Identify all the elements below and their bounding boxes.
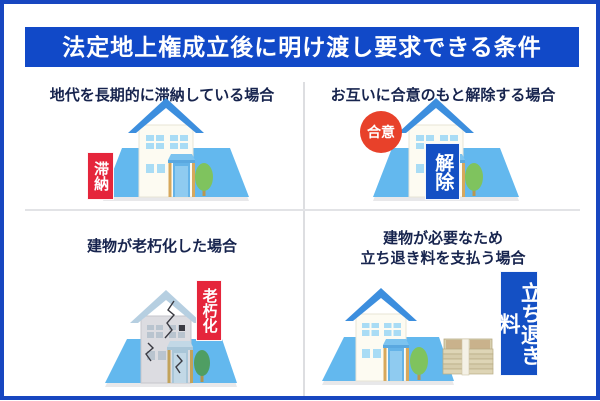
badge-taino: 滞納 bbox=[87, 152, 114, 200]
house-icon bbox=[22, 78, 302, 209]
illustration-house-on-land-plot bbox=[22, 78, 302, 209]
badge-kaijo: 解除 bbox=[425, 143, 460, 200]
badge-tachinokiryo: 立ち退き料 bbox=[500, 271, 538, 376]
badge-goui: 合意 bbox=[360, 111, 402, 153]
house-body bbox=[128, 98, 204, 197]
old-house-icon bbox=[22, 211, 302, 396]
poster-title: 法定地上権成立後に明け渡し要求できる条件 bbox=[62, 36, 542, 59]
poster-title-bar: 法定地上権成立後に明け渡し要求できる条件 bbox=[25, 27, 579, 67]
panel-building-deterioration: 建物が老朽化した場合 bbox=[22, 211, 302, 396]
panel-mutual-agreement: お互いに合意のもと解除する場合 bbox=[304, 78, 582, 209]
badge-roukyuka: 老朽化 bbox=[196, 280, 222, 341]
house-body bbox=[345, 288, 417, 381]
panel-grid: 地代を長期的に滞納している場合 bbox=[22, 78, 582, 396]
panel-rent-arrears: 地代を長期的に滞納している場合 bbox=[22, 78, 302, 209]
money-stack-icon bbox=[443, 339, 493, 375]
illustration-old-cracked-house bbox=[22, 211, 302, 396]
infographic-poster: 法定地上権成立後に明け渡し要求できる条件 地代を長期的に滞納している場合 bbox=[0, 0, 600, 400]
old-house-body bbox=[130, 290, 202, 383]
panel-eviction-fee: 建物が必要なため 立ち退き料を支払う場合 bbox=[304, 211, 582, 396]
